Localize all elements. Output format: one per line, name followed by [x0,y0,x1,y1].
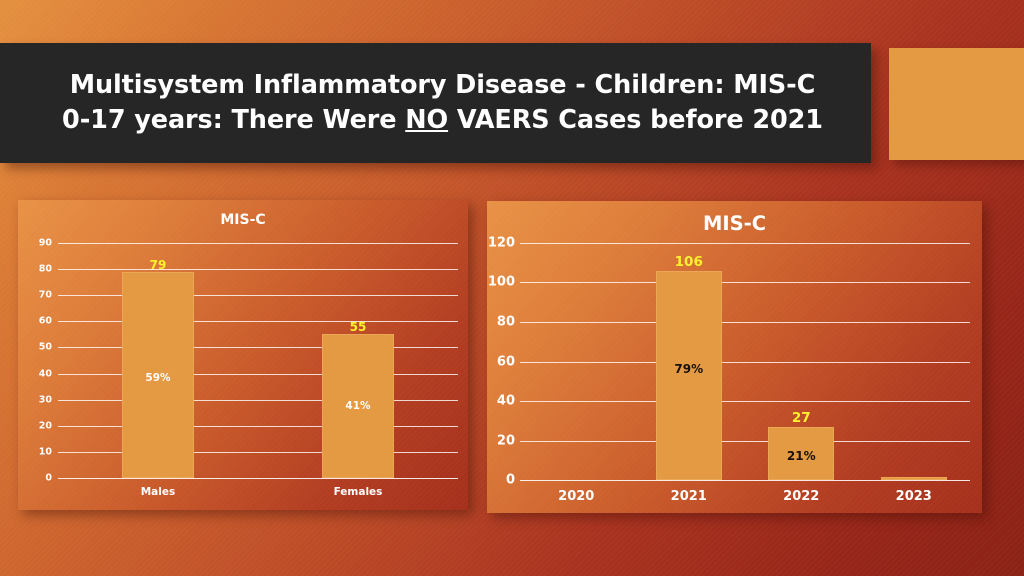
y-axis-tick-label: 40 [487,394,515,407]
y-axis-tick-label: 100 [487,276,515,289]
y-axis-tick-label: 0 [18,473,52,483]
y-axis-tick-label: 60 [18,317,52,327]
y-axis-tick-label: 60 [487,355,515,368]
y-axis-tick-label: 40 [18,369,52,379]
bar-group: 7959%Males5541%Females [58,243,458,478]
x-axis-tick-label: 2022 [745,489,858,504]
x-axis-tick-label: 2021 [633,489,746,504]
bar-2023[interactable] [881,477,947,480]
bar-males[interactable]: 7959% [122,272,194,478]
bar-slot: 10679%2021 [633,243,746,480]
chart-title-right: MIS-C [487,212,982,235]
bar-females[interactable]: 5541% [322,334,394,478]
bar-2022[interactable]: 2721% [768,427,834,480]
bar-value-label: 79 [150,259,167,271]
x-axis-tick-label: Females [258,486,458,498]
plot-area-left: 90807060504030201007959%Males5541%Female… [58,243,458,478]
bar-slot: 2020 [520,243,633,480]
bar-value-label: 106 [675,256,703,270]
title-line-1: Multisystem Inflammatory Disease - Child… [70,70,816,100]
title-emphasis-no: NO [405,105,448,135]
y-axis-tick-label: 20 [18,421,52,431]
bar-percent-label: 21% [787,450,816,462]
title-line-2-suffix: VAERS Cases before 2021 [448,105,823,135]
y-axis-tick-label: 50 [18,343,52,353]
y-axis-tick-label: 90 [18,238,52,248]
orange-placeholder-block [889,48,1024,160]
bar-group: 202010679%20212721%20222023 [520,243,970,480]
y-axis-tick-label: 80 [487,315,515,328]
y-axis-tick-label: 10 [18,447,52,457]
y-axis-tick-label: 80 [18,264,52,274]
gridline [58,478,458,479]
slide-title-banner: Multisystem Inflammatory Disease - Child… [0,43,871,163]
y-axis-tick-label: 0 [487,474,515,487]
chart-title-left: MIS-C [18,212,468,228]
x-axis-tick-label: Males [58,486,258,498]
y-axis-tick-label: 20 [487,434,515,447]
bar-value-label: 27 [792,412,811,426]
gridline [520,480,970,481]
y-axis-tick-label: 120 [487,237,515,250]
bar-slot: 5541%Females [258,243,458,478]
bar-slot: 7959%Males [58,243,258,478]
plot-area-right: 120100806040200202010679%20212721%202220… [520,243,970,480]
chart-panel-mis-c-by-year: MIS-C 120100806040200202010679%20212721%… [487,201,982,513]
y-axis-tick-label: 70 [18,290,52,300]
x-axis-tick-label: 2023 [858,489,971,504]
bar-slot: 2721%2022 [745,243,858,480]
title-line-2-prefix: 0-17 years: There Were [62,105,405,135]
y-axis-tick-label: 30 [18,395,52,405]
bar-percent-label: 41% [345,401,370,412]
x-axis-tick-label: 2020 [520,489,633,504]
chart-panel-mis-c-by-sex: MIS-C 90807060504030201007959%Males5541%… [18,200,468,510]
page-title: Multisystem Inflammatory Disease - Child… [48,68,823,138]
bar-percent-label: 79% [674,363,703,375]
bar-value-label: 55 [350,321,367,333]
bar-2021[interactable]: 10679% [656,271,722,480]
bar-percent-label: 59% [145,373,170,384]
bar-slot: 2023 [858,243,971,480]
